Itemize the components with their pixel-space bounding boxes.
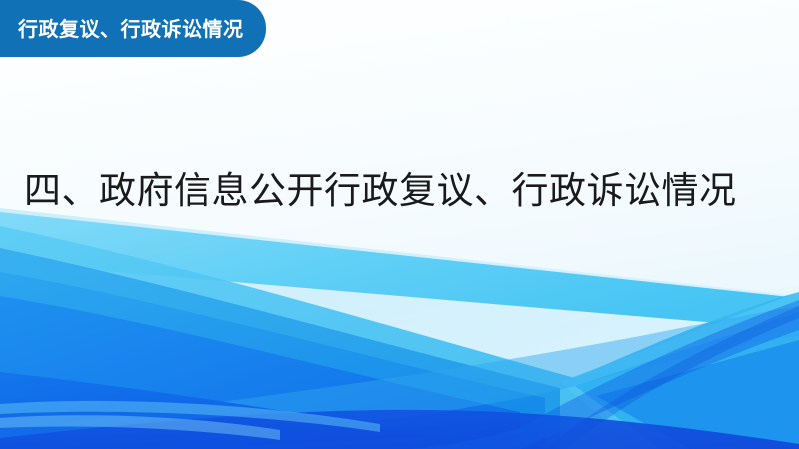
slide-canvas: 行政复议、行政诉讼情况 四、政府信息公开行政复议、行政诉讼情况	[0, 0, 799, 449]
blue-wave-background	[0, 0, 799, 449]
section-badge-label: 行政复议、行政诉讼情况	[18, 19, 244, 39]
page-title: 四、政府信息公开行政复议、行政诉讼情况	[24, 168, 737, 214]
section-badge: 行政复议、行政诉讼情况	[0, 0, 266, 57]
